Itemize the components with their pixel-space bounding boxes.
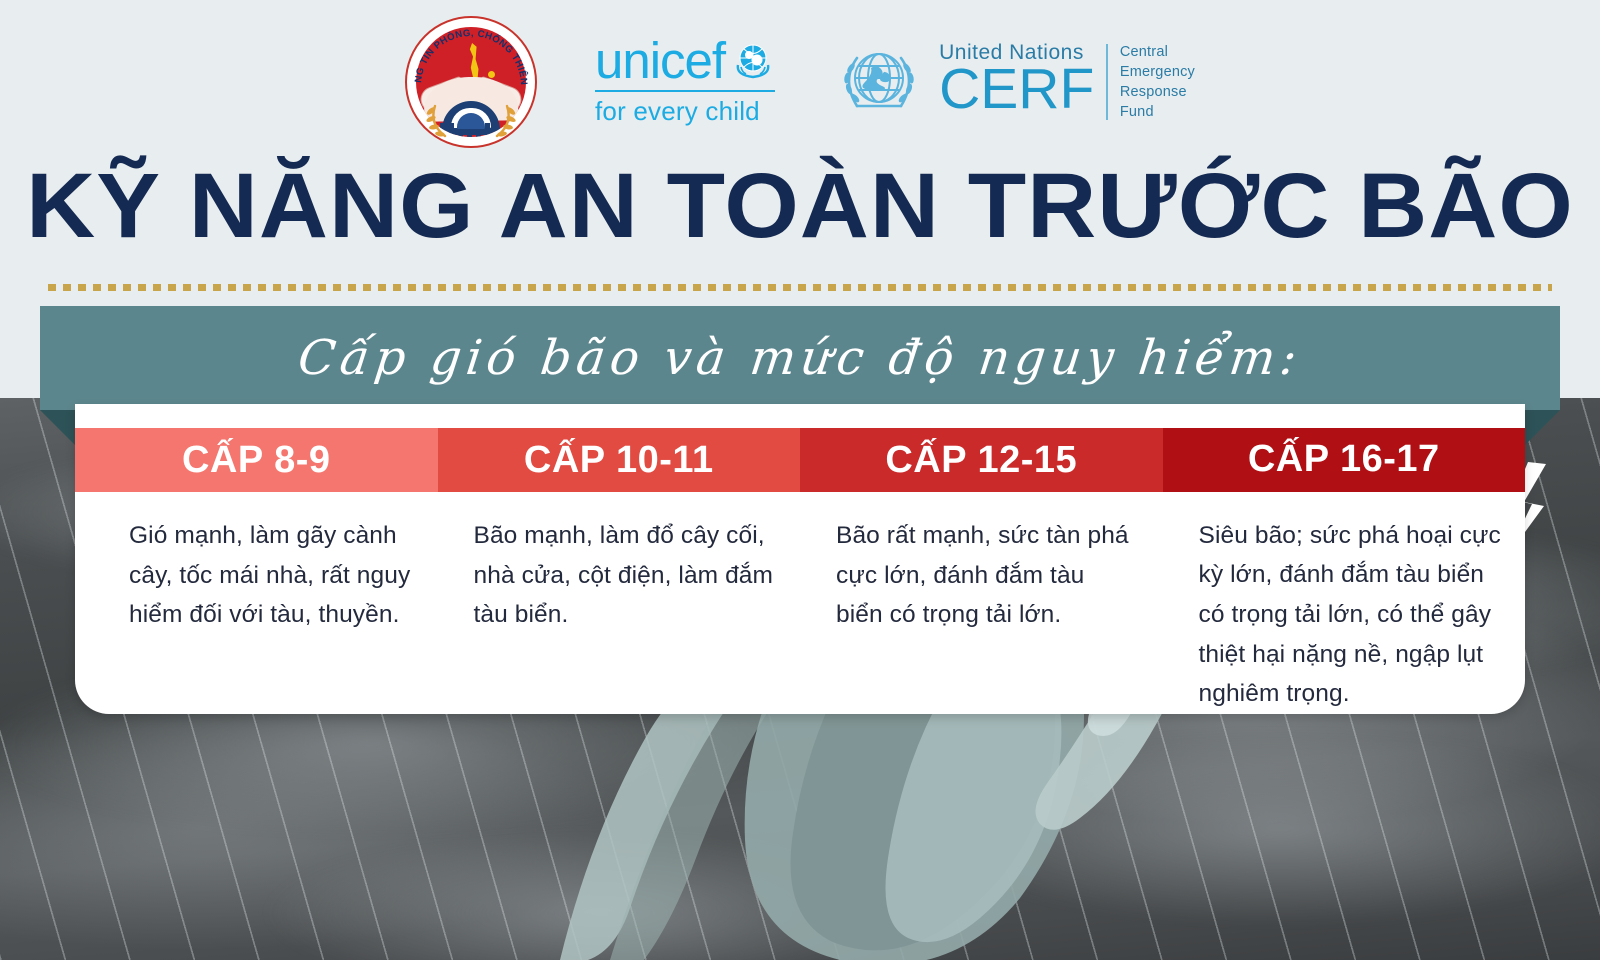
cerf-divider — [1106, 44, 1108, 120]
infographic-page: THÔNG TIN PHÒNG, CHỐNG THIÊN TAI unicef — [0, 0, 1600, 960]
unicef-wordmark: unicef — [595, 37, 725, 85]
column-header-4: CẤP 16-17 — [1163, 428, 1526, 492]
unicef-logo: unicef for every child — [595, 37, 775, 127]
column-header-1: CẤP 8-9 — [75, 428, 438, 492]
emblem-arc-text: THÔNG TIN PHÒNG, CHỐNG THIÊN TAI — [405, 16, 529, 86]
unicef-tagline: for every child — [595, 96, 760, 127]
vietnam-disaster-prevention-emblem-icon: THÔNG TIN PHÒNG, CHỐNG THIÊN TAI — [405, 16, 537, 148]
section-banner: Cấp gió bão và mức độ nguy hiểm: — [0, 306, 1600, 418]
column-header-2: CẤP 10-11 — [438, 428, 801, 492]
wind-level-column-1: CẤP 8-9 Gió mạnh, làm gãy cành cây, tốc … — [75, 404, 438, 714]
page-title: KỸ NĂNG AN TOÀN TRƯỚC BÃO — [0, 160, 1600, 252]
cerf-logo: United Nations CERF Central Emergency Re… — [833, 36, 1195, 128]
column-body-4: Siêu bão; sức phá hoại cực kỳ lớn, đánh … — [1163, 492, 1526, 714]
un-emblem-icon — [833, 36, 925, 128]
cerf-acronym: CERF — [939, 63, 1094, 115]
unicef-globe-icon — [731, 39, 775, 83]
cerf-sub-line-1: Central — [1120, 42, 1195, 62]
cerf-subtitle: Central Emergency Response Fund — [1120, 42, 1195, 122]
wind-scale-card: CẤP 8-9 Gió mạnh, làm gãy cành cây, tốc … — [75, 404, 1525, 714]
cerf-sub-line-2: Emergency — [1120, 62, 1195, 82]
svg-text:THÔNG TIN PHÒNG, CHỐNG THIÊN T: THÔNG TIN PHÒNG, CHỐNG THIÊN TAI — [405, 16, 529, 86]
column-body-1: Gió mạnh, làm gãy cành cây, tốc mái nhà,… — [75, 492, 438, 635]
unicef-divider — [595, 90, 775, 92]
wind-level-column-2: CẤP 10-11 Bão mạnh, làm đổ cây cối, nhà … — [438, 404, 801, 714]
title-divider — [48, 284, 1552, 291]
column-body-2: Bão mạnh, làm đổ cây cối, nhà cửa, cột đ… — [438, 492, 801, 635]
wind-level-column-3: CẤP 12-15 Bão rất mạnh, sức tàn phá cực … — [800, 404, 1163, 714]
banner-title: Cấp gió bão và mức độ nguy hiểm: — [34, 306, 1567, 410]
column-body-3: Bão rất mạnh, sức tàn phá cực lớn, đánh … — [800, 492, 1163, 635]
column-header-3: CẤP 12-15 — [800, 428, 1163, 492]
logo-strip: THÔNG TIN PHÒNG, CHỐNG THIÊN TAI unicef — [0, 8, 1600, 156]
wind-level-column-4: CẤP 16-17 Siêu bão; sức phá hoại cực kỳ … — [1163, 404, 1526, 714]
cerf-sub-line-4: Fund — [1120, 102, 1195, 122]
cerf-sub-line-3: Response — [1120, 82, 1195, 102]
